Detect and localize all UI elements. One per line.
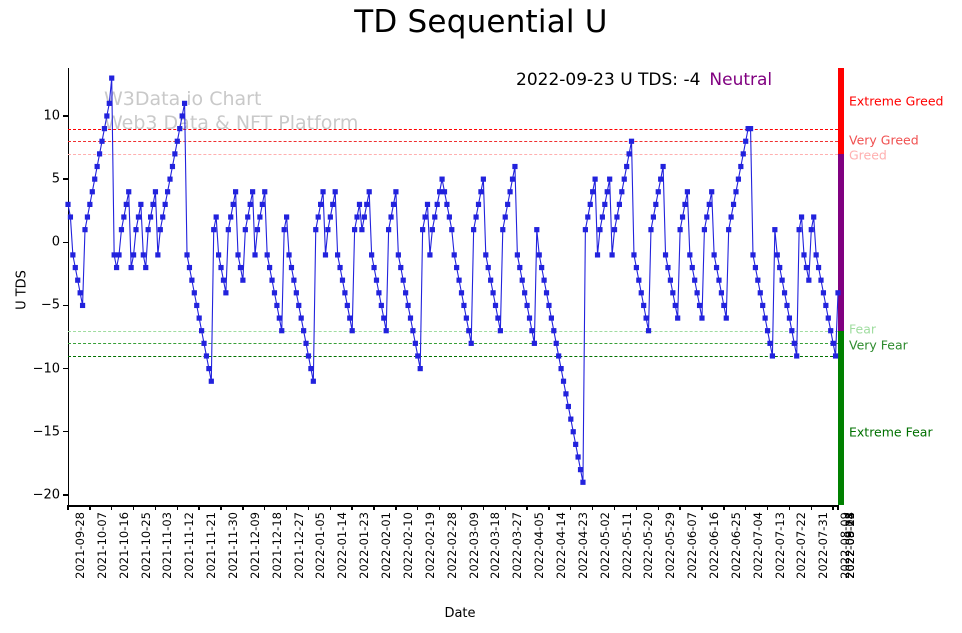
data-point: [354, 214, 359, 219]
data-point: [524, 303, 529, 308]
data-point: [250, 189, 255, 194]
data-point: [240, 278, 245, 283]
data-point: [614, 214, 619, 219]
data-point: [624, 164, 629, 169]
data-point: [714, 265, 719, 270]
data-point: [797, 227, 802, 232]
data-point: [748, 126, 753, 131]
data-point: [741, 151, 746, 156]
data-point: [726, 227, 731, 232]
data-point: [209, 379, 214, 384]
data-point: [284, 214, 289, 219]
data-point: [695, 290, 700, 295]
data-point: [738, 164, 743, 169]
data-point: [563, 391, 568, 396]
data-point: [90, 189, 95, 194]
data-point: [80, 303, 85, 308]
readout-text: 2022-09-23 U TDS: -4: [516, 70, 700, 90]
data-point: [420, 227, 425, 232]
data-point: [464, 315, 469, 320]
data-point: [461, 303, 466, 308]
data-point: [170, 164, 175, 169]
data-point: [818, 278, 823, 283]
data-point: [337, 265, 342, 270]
readout: 2022-09-23 U TDS: -4Neutral: [516, 70, 772, 90]
data-point: [231, 202, 236, 207]
data-point: [255, 227, 260, 232]
data-point: [743, 139, 748, 144]
data-point: [476, 202, 481, 207]
data-series-u-tds: [0, 0, 962, 633]
data-point: [588, 202, 593, 207]
data-point: [199, 328, 204, 333]
data-point: [294, 290, 299, 295]
data-point: [578, 467, 583, 472]
data-point: [801, 252, 806, 257]
data-point: [697, 303, 702, 308]
data-point: [316, 214, 321, 219]
data-point: [286, 252, 291, 257]
data-point: [124, 202, 129, 207]
data-point: [680, 214, 685, 219]
data-point: [733, 189, 738, 194]
data-point: [826, 315, 831, 320]
data-point: [425, 202, 430, 207]
data-point: [194, 303, 199, 308]
data-point: [323, 252, 328, 257]
data-point: [736, 177, 741, 182]
data-point: [483, 252, 488, 257]
data-point: [634, 265, 639, 270]
data-point: [537, 252, 542, 257]
data-point: [403, 290, 408, 295]
data-point: [510, 177, 515, 182]
data-point: [233, 189, 238, 194]
data-point: [257, 214, 262, 219]
data-point: [831, 341, 836, 346]
data-point: [678, 227, 683, 232]
data-point: [381, 315, 386, 320]
data-point: [289, 265, 294, 270]
data-point: [359, 227, 364, 232]
data-point: [148, 214, 153, 219]
data-point: [379, 303, 384, 308]
data-point: [391, 202, 396, 207]
data-point: [583, 227, 588, 232]
data-point: [364, 202, 369, 207]
data-point: [675, 315, 680, 320]
data-point: [534, 227, 539, 232]
data-point: [330, 202, 335, 207]
data-point: [466, 328, 471, 333]
data-point: [702, 227, 707, 232]
data-point: [182, 101, 187, 106]
data-point: [799, 214, 804, 219]
data-point: [104, 113, 109, 118]
data-point: [335, 252, 340, 257]
data-point: [87, 202, 92, 207]
data-point: [243, 227, 248, 232]
data-point: [279, 328, 284, 333]
data-point: [342, 290, 347, 295]
data-point: [413, 341, 418, 346]
data-point: [522, 290, 527, 295]
data-point: [648, 227, 653, 232]
data-point: [707, 202, 712, 207]
data-point: [597, 227, 602, 232]
data-point: [687, 252, 692, 257]
data-point: [282, 227, 287, 232]
data-point: [809, 227, 814, 232]
data-point: [180, 113, 185, 118]
data-point: [442, 189, 447, 194]
data-point: [299, 315, 304, 320]
data-point: [291, 278, 296, 283]
data-point: [760, 303, 765, 308]
data-point: [835, 290, 840, 295]
data-point: [197, 315, 202, 320]
data-point: [515, 252, 520, 257]
data-point: [493, 303, 498, 308]
data-point: [763, 315, 768, 320]
series-markers: [65, 76, 840, 485]
data-point: [92, 177, 97, 182]
data-point: [473, 214, 478, 219]
data-point: [636, 278, 641, 283]
data-point: [252, 252, 257, 257]
series-line: [68, 78, 838, 482]
data-point: [656, 189, 661, 194]
data-point: [593, 177, 598, 182]
data-point: [794, 353, 799, 358]
data-point: [112, 252, 117, 257]
data-point: [471, 227, 476, 232]
data-point: [459, 290, 464, 295]
data-point: [146, 227, 151, 232]
data-point: [189, 278, 194, 283]
data-point: [758, 290, 763, 295]
data-point: [340, 278, 345, 283]
data-point: [245, 214, 250, 219]
data-point: [401, 278, 406, 283]
data-point: [228, 214, 233, 219]
data-point: [644, 315, 649, 320]
data-point: [163, 202, 168, 207]
data-point: [175, 139, 180, 144]
data-point: [612, 227, 617, 232]
data-point: [73, 265, 78, 270]
data-point: [410, 328, 415, 333]
data-point: [571, 429, 576, 434]
data-point: [347, 315, 352, 320]
data-point: [806, 278, 811, 283]
data-point: [274, 303, 279, 308]
data-point: [267, 265, 272, 270]
data-point: [639, 290, 644, 295]
data-point: [682, 202, 687, 207]
data-point: [775, 252, 780, 257]
data-point: [192, 290, 197, 295]
data-point: [665, 265, 670, 270]
data-point: [99, 139, 104, 144]
data-point: [554, 341, 559, 346]
data-point: [265, 252, 270, 257]
data-point: [709, 189, 714, 194]
chart-page: TD Sequential U 2022-09-23 U TDS: -4Neut…: [0, 0, 962, 633]
data-point: [418, 366, 423, 371]
data-point: [143, 265, 148, 270]
data-point: [512, 164, 517, 169]
data-point: [328, 214, 333, 219]
data-point: [602, 202, 607, 207]
data-point: [685, 189, 690, 194]
data-point: [235, 252, 240, 257]
data-point: [661, 164, 666, 169]
data-point: [201, 341, 206, 346]
data-point: [116, 252, 121, 257]
data-point: [673, 303, 678, 308]
data-point: [712, 252, 717, 257]
data-point: [357, 202, 362, 207]
data-point: [816, 265, 821, 270]
data-point: [136, 214, 141, 219]
data-point: [308, 366, 313, 371]
data-point: [121, 214, 126, 219]
data-point: [333, 189, 338, 194]
data-point: [792, 341, 797, 346]
data-point: [269, 278, 274, 283]
data-point: [218, 265, 223, 270]
data-point: [141, 252, 146, 257]
data-point: [350, 328, 355, 333]
data-point: [658, 177, 663, 182]
data-point: [539, 265, 544, 270]
data-point: [753, 265, 758, 270]
data-point: [566, 404, 571, 409]
data-point: [544, 290, 549, 295]
data-point: [770, 353, 775, 358]
data-point: [469, 341, 474, 346]
data-point: [627, 151, 632, 156]
data-point: [755, 278, 760, 283]
data-point: [573, 442, 578, 447]
data-point: [184, 252, 189, 257]
data-point: [495, 315, 500, 320]
data-point: [352, 227, 357, 232]
data-point: [500, 227, 505, 232]
data-point: [750, 252, 755, 257]
data-point: [172, 151, 177, 156]
data-point: [784, 303, 789, 308]
data-point: [629, 139, 634, 144]
data-point: [731, 202, 736, 207]
data-point: [527, 315, 532, 320]
data-point: [580, 480, 585, 485]
data-point: [704, 214, 709, 219]
data-point: [575, 454, 580, 459]
data-point: [427, 252, 432, 257]
data-point: [345, 303, 350, 308]
data-point: [432, 214, 437, 219]
data-point: [452, 252, 457, 257]
data-point: [641, 303, 646, 308]
data-point: [507, 189, 512, 194]
data-point: [782, 290, 787, 295]
data-point: [396, 252, 401, 257]
data-point: [187, 265, 192, 270]
data-point: [670, 290, 675, 295]
data-point: [221, 278, 226, 283]
data-point: [780, 278, 785, 283]
data-point: [561, 379, 566, 384]
readout-state: Neutral: [709, 70, 772, 90]
data-point: [393, 189, 398, 194]
data-point: [444, 202, 449, 207]
data-point: [318, 202, 323, 207]
data-point: [721, 303, 726, 308]
data-point: [585, 214, 590, 219]
data-point: [541, 278, 546, 283]
data-point: [75, 278, 80, 283]
data-point: [503, 214, 508, 219]
data-point: [138, 202, 143, 207]
data-point: [772, 227, 777, 232]
data-point: [97, 151, 102, 156]
data-point: [260, 202, 265, 207]
data-point: [821, 290, 826, 295]
data-point: [214, 214, 219, 219]
data-point: [150, 202, 155, 207]
data-point: [437, 189, 442, 194]
data-point: [823, 303, 828, 308]
data-point: [109, 76, 114, 81]
data-point: [651, 214, 656, 219]
data-point: [833, 353, 838, 358]
data-point: [828, 328, 833, 333]
data-point: [551, 328, 556, 333]
data-point: [777, 265, 782, 270]
data-point: [653, 202, 658, 207]
data-point: [301, 328, 306, 333]
data-point: [223, 290, 228, 295]
data-point: [617, 202, 622, 207]
data-point: [408, 315, 413, 320]
data-point: [692, 278, 697, 283]
data-point: [153, 189, 158, 194]
data-point: [367, 189, 372, 194]
data-point: [114, 265, 119, 270]
data-point: [386, 227, 391, 232]
data-point: [622, 177, 627, 182]
data-point: [646, 328, 651, 333]
data-point: [158, 227, 163, 232]
data-point: [631, 252, 636, 257]
data-point: [520, 278, 525, 283]
data-point: [505, 202, 510, 207]
data-point: [435, 202, 440, 207]
data-point: [767, 341, 772, 346]
data-point: [131, 252, 136, 257]
data-point: [488, 278, 493, 283]
data-point: [95, 164, 100, 169]
data-point: [320, 189, 325, 194]
data-point: [85, 214, 90, 219]
data-point: [369, 252, 374, 257]
data-point: [568, 417, 573, 422]
data-point: [119, 227, 124, 232]
data-point: [517, 265, 522, 270]
data-point: [439, 177, 444, 182]
data-point: [699, 315, 704, 320]
data-point: [398, 265, 403, 270]
data-point: [719, 290, 724, 295]
data-point: [532, 341, 537, 346]
data-point: [668, 278, 673, 283]
data-point: [277, 315, 282, 320]
data-point: [724, 315, 729, 320]
data-point: [447, 214, 452, 219]
data-point: [211, 227, 216, 232]
data-point: [405, 303, 410, 308]
data-point: [449, 227, 454, 232]
data-point: [729, 214, 734, 219]
data-point: [430, 227, 435, 232]
data-point: [590, 189, 595, 194]
data-point: [102, 126, 107, 131]
data-point: [422, 214, 427, 219]
data-point: [454, 265, 459, 270]
data-point: [814, 252, 819, 257]
data-point: [311, 379, 316, 384]
data-point: [415, 353, 420, 358]
data-point: [529, 328, 534, 333]
data-point: [374, 278, 379, 283]
data-point: [313, 227, 318, 232]
data-point: [610, 252, 615, 257]
data-point: [600, 214, 605, 219]
data-point: [165, 189, 170, 194]
data-point: [296, 303, 301, 308]
data-point: [303, 341, 308, 346]
data-point: [811, 214, 816, 219]
data-point: [82, 227, 87, 232]
data-point: [206, 366, 211, 371]
data-point: [129, 265, 134, 270]
data-point: [787, 315, 792, 320]
data-point: [549, 315, 554, 320]
data-point: [216, 252, 221, 257]
data-point: [371, 265, 376, 270]
data-point: [133, 227, 138, 232]
data-point: [804, 265, 809, 270]
data-point: [765, 328, 770, 333]
data-point: [490, 290, 495, 295]
data-point: [456, 278, 461, 283]
data-point: [70, 252, 75, 257]
data-point: [605, 189, 610, 194]
data-point: [272, 290, 277, 295]
data-point: [126, 189, 131, 194]
data-point: [78, 290, 83, 295]
data-point: [595, 252, 600, 257]
data-point: [558, 366, 563, 371]
data-point: [226, 227, 231, 232]
data-point: [107, 101, 112, 106]
data-point: [238, 265, 243, 270]
data-point: [546, 303, 551, 308]
data-point: [663, 252, 668, 257]
data-point: [160, 214, 165, 219]
